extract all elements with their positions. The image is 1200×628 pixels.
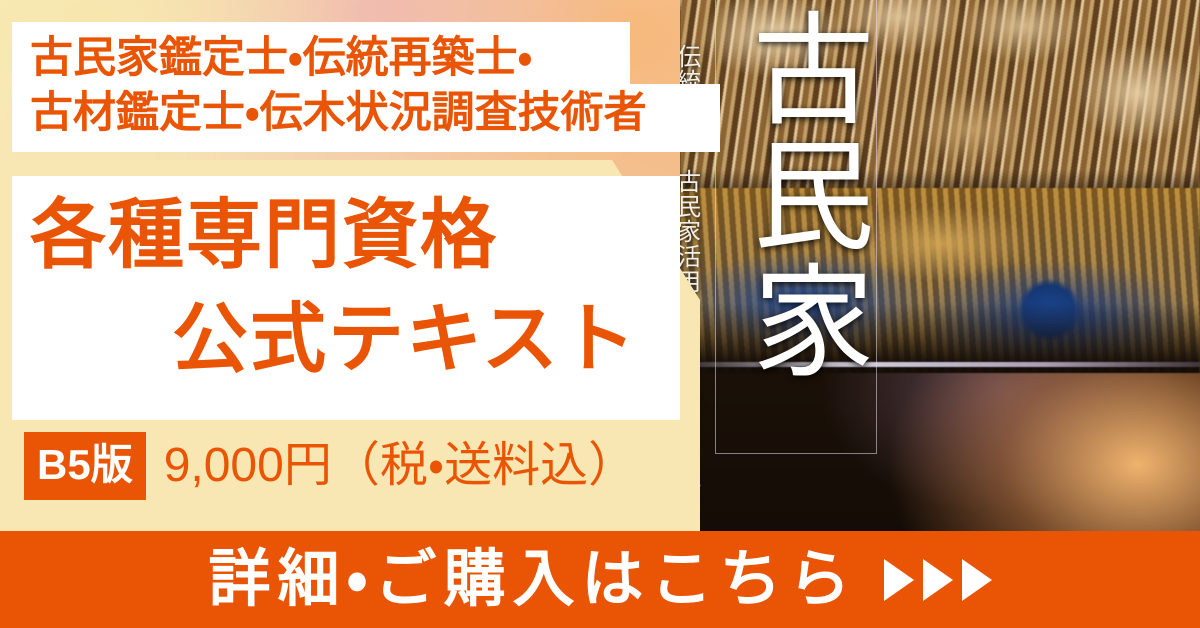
main-title-line-2: 公式テキスト (172, 302, 638, 378)
price-row: B5版 9,000円（税・送料込） (24, 432, 636, 500)
heading-panel: 古民家鑑定士・伝統再築士・ 古材鑑定士・伝木状況調査技術者 (12, 22, 720, 152)
play-arrow-icon (962, 559, 992, 601)
format-badge: B5版 (24, 432, 146, 500)
cover-title: 古民家 (722, 6, 872, 384)
main-title-line-1: 各種専門資格 (30, 198, 498, 274)
price-amount: 9,000円（税・送料込） (164, 442, 636, 490)
cta-arrow-group (884, 559, 992, 601)
book-cover-image: 古民家 伝統構法、古民家活用のための調査と再生の (680, 0, 1200, 540)
promo-banner: 古民家 伝統構法、古民家活用のための調査と再生の 古民家鑑定士・伝統再築士・ 古… (0, 0, 1200, 628)
cta-label: 詳細・ご購入はこちら (208, 549, 857, 611)
play-arrow-icon (884, 559, 914, 601)
heading-line-1: 古民家鑑定士・伝統再築士・ (30, 37, 532, 80)
cta-bar[interactable]: 詳細・ご購入はこちら (0, 531, 1200, 628)
main-title-panel: 各種専門資格 公式テキスト (12, 176, 680, 420)
heading-line-2: 古材鑑定士・伝木状況調査技術者 (30, 92, 647, 135)
play-arrow-icon (923, 559, 953, 601)
